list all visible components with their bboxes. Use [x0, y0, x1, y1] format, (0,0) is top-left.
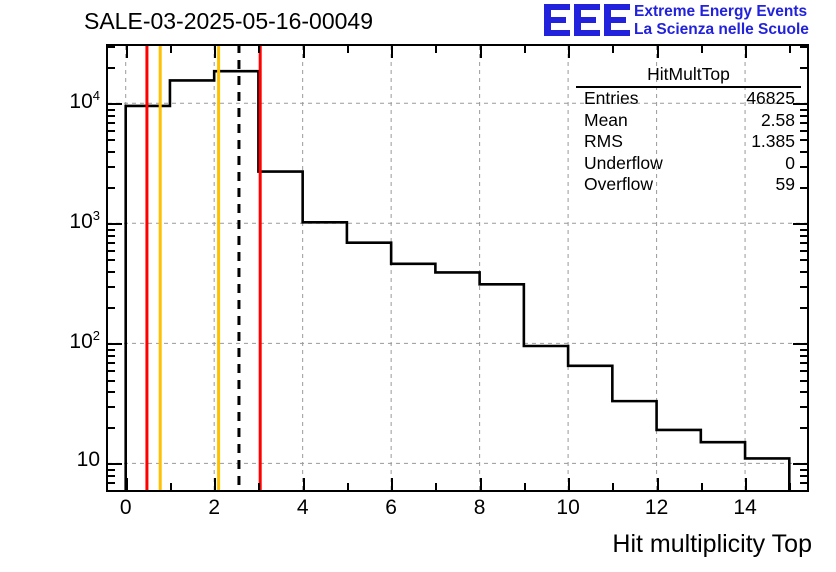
x-tick-label: 4 [273, 496, 333, 520]
stats-value: 0 [785, 153, 795, 175]
y-tick-minor-right [800, 469, 807, 471]
y-tick-minor [108, 67, 115, 69]
y-tick-minor-right [800, 362, 807, 364]
x-tick-label: 14 [715, 496, 775, 520]
y-tick-minor-right [800, 122, 807, 124]
x-tick-major-top [657, 46, 659, 58]
y-tick-minor-right [800, 151, 807, 153]
x-tick-label: 0 [96, 496, 156, 520]
y-tick-minor [108, 271, 115, 273]
y-tick-minor-right [800, 307, 807, 309]
y-tick-minor [108, 46, 115, 48]
x-tick-major [745, 478, 747, 490]
y-tick-minor [108, 475, 115, 477]
stats-label: Entries [584, 88, 638, 110]
y-tick-label: 10 [20, 448, 100, 472]
x-tick-major-top [214, 46, 216, 58]
y-tick-minor-right [800, 349, 807, 351]
y-tick-minor [108, 286, 115, 288]
x-tick-major-top [568, 46, 570, 58]
x-tick-minor [435, 483, 437, 490]
x-tick-minor-top [170, 46, 172, 53]
y-tick-minor-right [800, 46, 807, 48]
y-tick-minor [108, 490, 115, 492]
x-axis-title: Hit multiplicity Top [612, 530, 812, 559]
y-tick-minor [108, 307, 115, 309]
y-tick-minor [108, 166, 115, 168]
x-tick-major-top [480, 46, 482, 58]
stats-row: Entries46825 [576, 88, 801, 110]
stats-value: 1.385 [751, 131, 795, 153]
y-tick-minor [108, 469, 115, 471]
y-tick-minor [108, 391, 115, 393]
eee-logo-line1: Extreme Energy Events [634, 3, 809, 21]
y-tick-minor-right [800, 242, 807, 244]
y-tick-minor [108, 380, 115, 382]
y-tick-major-right [793, 223, 807, 225]
root-canvas: SALE-03-2025-05-16-00049 Extreme Energy … [0, 0, 836, 572]
stats-row: Underflow0 [576, 153, 801, 175]
y-tick-minor [108, 362, 115, 364]
y-tick-minor [108, 259, 115, 261]
y-tick-minor [108, 122, 115, 124]
y-tick-minor [108, 427, 115, 429]
x-tick-minor [789, 483, 791, 490]
stats-value: 2.58 [761, 110, 795, 132]
stats-value: 59 [776, 174, 795, 196]
eee-logo-text: Extreme Energy Events La Scienza nelle S… [634, 3, 809, 38]
y-tick-minor-right [800, 67, 807, 69]
y-tick-minor-right [800, 271, 807, 273]
y-tick-minor-right [800, 139, 807, 141]
y-tick-minor [108, 115, 115, 117]
eee-logo-line2: La Scienza nelle Scuole [634, 21, 809, 39]
y-tick-minor-right [800, 187, 807, 189]
stats-title: HitMultTop [576, 64, 801, 88]
y-tick-minor [108, 109, 115, 111]
stats-row: Mean2.58 [576, 110, 801, 132]
y-tick-minor-right [800, 475, 807, 477]
x-tick-minor [170, 483, 172, 490]
x-tick-major [214, 478, 216, 490]
y-tick-minor-right [800, 406, 807, 408]
x-tick-minor-top [435, 46, 437, 53]
stats-row: RMS1.385 [576, 131, 801, 153]
y-tick-minor-right [800, 391, 807, 393]
y-tick-minor [108, 187, 115, 189]
stats-value: 46825 [746, 88, 795, 110]
x-tick-major [480, 478, 482, 490]
stats-rows: Entries46825Mean2.58RMS1.385Underflow0Ov… [576, 88, 801, 196]
stats-label: RMS [584, 131, 623, 153]
y-tick-minor [108, 229, 115, 231]
y-tick-label: 104 [20, 88, 100, 114]
y-tick-label: 103 [20, 208, 100, 234]
y-tick-minor [108, 151, 115, 153]
x-tick-major-top [391, 46, 393, 58]
x-tick-major [303, 478, 305, 490]
x-tick-minor-top [789, 46, 791, 53]
y-tick-major [108, 223, 122, 225]
y-tick-major [108, 103, 122, 105]
y-tick-minor [108, 250, 115, 252]
y-tick-minor-right [800, 166, 807, 168]
x-tick-label: 6 [361, 496, 421, 520]
y-tick-minor [108, 406, 115, 408]
y-tick-minor-right [800, 490, 807, 492]
y-tick-label: 102 [20, 328, 100, 354]
stats-box: HitMultTop Entries46825Mean2.58RMS1.385U… [576, 64, 801, 206]
y-tick-minor-right [800, 229, 807, 231]
x-tick-minor [524, 483, 526, 490]
x-tick-minor-top [612, 46, 614, 53]
x-tick-minor [347, 483, 349, 490]
x-tick-label: 2 [184, 496, 244, 520]
x-tick-major [126, 478, 128, 490]
x-tick-minor [612, 483, 614, 490]
y-tick-major [108, 463, 122, 465]
x-tick-minor-top [701, 46, 703, 53]
x-tick-label: 12 [627, 496, 687, 520]
y-tick-minor-right [800, 380, 807, 382]
stats-label: Mean [584, 110, 628, 132]
x-tick-major-top [126, 46, 128, 58]
stats-label: Underflow [584, 153, 663, 175]
y-tick-minor [108, 355, 115, 357]
x-tick-major [568, 478, 570, 490]
y-tick-minor [108, 235, 115, 237]
y-tick-minor-right [800, 250, 807, 252]
x-tick-minor-top [524, 46, 526, 53]
x-tick-minor-top [258, 46, 260, 53]
y-tick-minor-right [800, 235, 807, 237]
y-tick-minor [108, 130, 115, 132]
page-title: SALE-03-2025-05-16-00049 [84, 8, 373, 35]
x-tick-major-top [745, 46, 747, 58]
y-tick-major [108, 343, 122, 345]
x-tick-minor-top [347, 46, 349, 53]
y-tick-minor-right [800, 259, 807, 261]
y-tick-minor-right [800, 370, 807, 372]
stats-label: Overflow [584, 174, 653, 196]
x-tick-major-top [303, 46, 305, 58]
y-tick-minor-right [800, 130, 807, 132]
y-tick-minor-right [800, 286, 807, 288]
x-tick-label: 8 [450, 496, 510, 520]
y-tick-minor-right [800, 482, 807, 484]
x-tick-minor [701, 483, 703, 490]
y-tick-minor-right [800, 115, 807, 117]
stats-row: Overflow59 [576, 174, 801, 196]
y-tick-minor-right [800, 109, 807, 111]
eee-logo: Extreme Energy Events La Scienza nelle S… [544, 2, 834, 42]
eee-letters-icon [544, 2, 630, 38]
x-tick-major [391, 478, 393, 490]
y-tick-major-right [793, 343, 807, 345]
y-tick-minor-right [800, 427, 807, 429]
y-tick-minor [108, 482, 115, 484]
x-tick-minor [258, 483, 260, 490]
x-tick-label: 10 [538, 496, 598, 520]
y-tick-minor [108, 349, 115, 351]
y-tick-minor-right [800, 355, 807, 357]
y-tick-minor [108, 242, 115, 244]
x-tick-major [657, 478, 659, 490]
y-tick-minor [108, 370, 115, 372]
y-tick-minor [108, 139, 115, 141]
y-tick-major-right [793, 463, 807, 465]
